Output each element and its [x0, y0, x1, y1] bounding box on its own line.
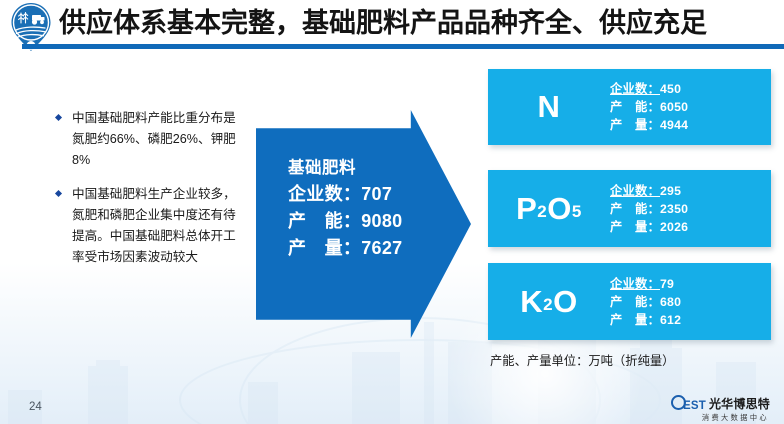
stat-label: 产 能： [610, 295, 660, 309]
panel-stats-k2o: 企业数：79 产 能：680 产 量：612 [610, 263, 681, 340]
panel-symbol-n: N [488, 69, 610, 145]
stat-capacity: 产 能：2350 [610, 200, 688, 218]
best-badge-icon: EST [671, 395, 706, 412]
symbol-main: K [520, 284, 543, 320]
stat-value: 2026 [660, 220, 688, 234]
corporate-logo: EST 光华博思特 消费大数据中心 [671, 395, 770, 421]
stat-label: 企业数： [610, 82, 660, 96]
stat-label: 企业数： [610, 184, 660, 198]
stat-value: 612 [660, 313, 681, 327]
stat-label: 产 量： [610, 220, 660, 234]
bullet-diamond-icon [55, 114, 62, 121]
arrow-stat-capacity: 产 能：9080 [288, 208, 402, 235]
title-rule [31, 44, 784, 49]
symbol-main-2: O [553, 284, 578, 320]
stat-output: 产 量：612 [610, 311, 681, 329]
stat-value: 680 [660, 295, 681, 309]
corporate-subtitle: 消费大数据中心 [702, 413, 769, 423]
stat-enterprises: 企业数：295 [610, 182, 688, 200]
stat-value: 450 [660, 82, 681, 96]
corporate-logo-main: EST 光华博思特 [671, 395, 770, 412]
bullet-text: 中国基础肥料产能比重分布是氮肥约66%、磷肥26%、钾肥8% [72, 111, 236, 167]
stat-output: 产 量：2026 [610, 218, 688, 236]
symbol-sub: 2 [537, 202, 547, 222]
slide-header: 供应体系基本完整，基础肥料产品品种齐全、供应充足 [0, 0, 784, 52]
stat-label: 企业数： [610, 277, 660, 291]
panel-nitrogen[interactable]: N 企业数：450 产 能：6050 产 量：4944 [488, 69, 771, 145]
stat-output: 产 量：4944 [610, 116, 688, 134]
stat-enterprises: 企业数：450 [610, 80, 688, 98]
stat-value: 295 [660, 184, 681, 198]
stat-enterprises: 企业数：79 [610, 275, 681, 293]
panel-symbol-k2o: K2O [488, 263, 610, 340]
stat-label: 产 量： [610, 118, 660, 132]
panel-symbol-p2o5: P2O5 [488, 170, 610, 247]
list-item: 中国基础肥料产能比重分布是氮肥约66%、磷肥26%、钾肥8% [55, 108, 240, 171]
arrow-stat-enterprises: 企业数：707 [288, 181, 402, 208]
corporate-name: 光华博思特 [709, 395, 770, 412]
bullet-diamond-icon [55, 190, 62, 197]
slide-canvas: 供应体系基本完整，基础肥料产品品种齐全、供应充足 中国基础肥料产能比重分布是氮肥… [0, 0, 784, 424]
arrow-title: 基础肥料 [288, 156, 402, 181]
symbol-main: N [538, 89, 561, 125]
bullet-text: 中国基础肥料生产企业较多，氮肥和磷肥企业集中度还有待提高。中国基础肥料总体开工率… [72, 187, 236, 264]
symbol-sub-2: 5 [572, 202, 582, 222]
stat-label: 产 能： [610, 202, 660, 216]
bullet-list: 中国基础肥料产能比重分布是氮肥约66%、磷肥26%、钾肥8% 中国基础肥料生产企… [55, 108, 240, 281]
arrow-stat-output: 产 量：7627 [288, 235, 402, 262]
panel-phosphorus[interactable]: P2O5 企业数：295 产 能：2350 产 量：2026 [488, 170, 771, 247]
symbol-main: P [516, 191, 537, 227]
badge-text: EST [683, 400, 706, 412]
stat-capacity: 产 能：6050 [610, 98, 688, 116]
units-footnote: 产能、产量单位：万吨（折纯量） [490, 351, 674, 369]
stat-value: 2350 [660, 202, 688, 216]
list-item: 中国基础肥料生产企业较多，氮肥和磷肥企业集中度还有待提高。中国基础肥料总体开工率… [55, 184, 240, 268]
stat-value: 6050 [660, 100, 688, 114]
symbol-sub: 2 [543, 295, 553, 315]
panel-stats-p2o5: 企业数：295 产 能：2350 产 量：2026 [610, 170, 688, 247]
symbol-main-2: O [547, 191, 572, 227]
panel-potassium[interactable]: K2O 企业数：79 产 能：680 产 量：612 [488, 263, 771, 340]
stat-capacity: 产 能：680 [610, 293, 681, 311]
stat-value: 79 [660, 277, 674, 291]
panel-stats-n: 企业数：450 产 能：6050 产 量：4944 [610, 69, 688, 145]
stat-label: 产 能： [610, 100, 660, 114]
stat-label: 产 量： [610, 313, 660, 327]
basic-fertilizer-arrow: 基础肥料 企业数：707 产 能：9080 产 量：7627 [256, 110, 471, 338]
stat-value: 4944 [660, 118, 688, 132]
arrow-text-group: 基础肥料 企业数：707 产 能：9080 产 量：7627 [288, 156, 402, 262]
page-number: 24 [29, 401, 42, 413]
page-title: 供应体系基本完整，基础肥料产品品种齐全、供应充足 [59, 4, 777, 42]
